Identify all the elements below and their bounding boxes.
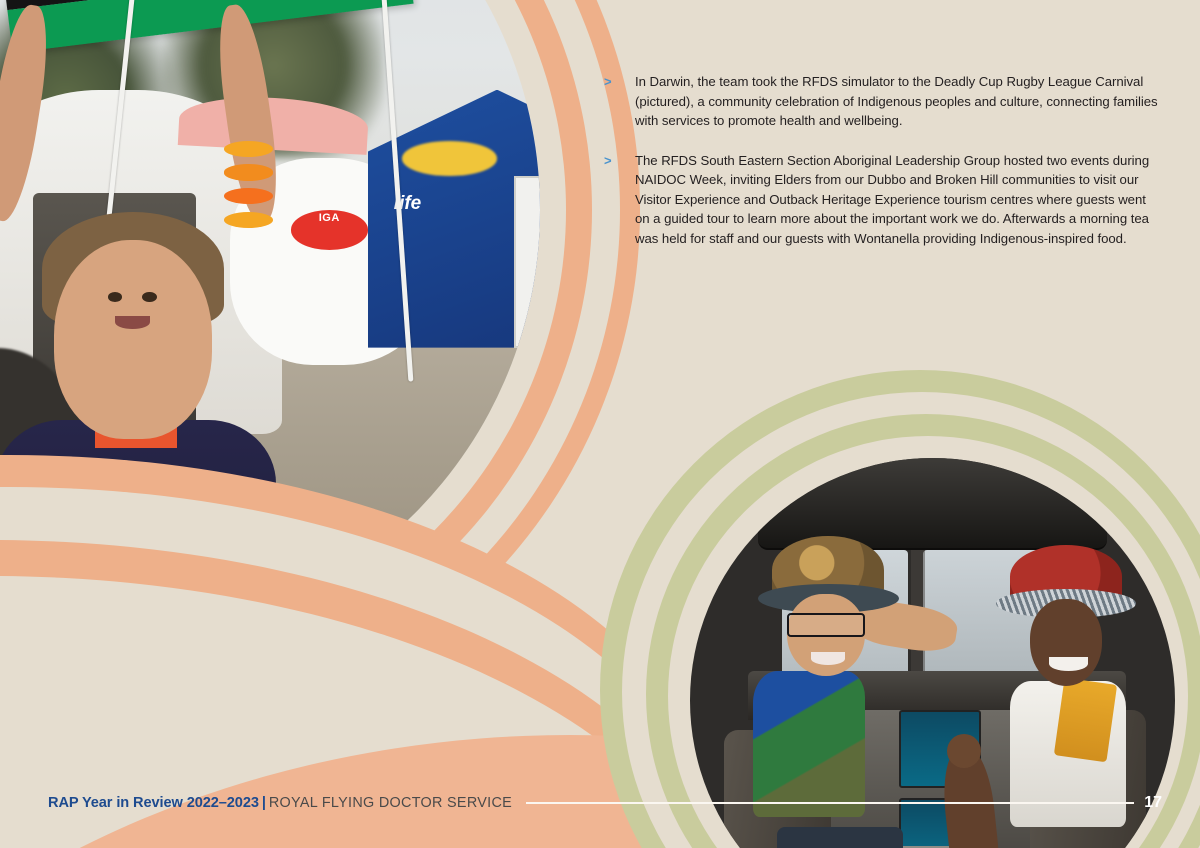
person-right-scarf [1053,678,1117,762]
information-board [514,176,540,348]
person-left-glasses-icon [787,613,865,637]
child-face [54,240,212,439]
bullet-text: In Darwin, the team took the RFDS simula… [635,72,1164,131]
child-eye-right [142,292,156,302]
footer-title-group: RAP Year in Review 2022–2023|ROYAL FLYIN… [48,795,512,811]
bullet-item: > The RFDS South Eastern Section Aborigi… [604,151,1164,249]
person-right-face [1030,599,1103,686]
person-left-legs [777,827,903,848]
footer-rule-line [526,802,1134,804]
bullet-chevron-icon: > [604,151,635,249]
wristband [224,212,274,228]
bullet-item: > In Darwin, the team took the RFDS simu… [604,72,1164,131]
footer-organisation-name: ROYAL FLYING DOCTOR SERVICE [269,795,512,811]
page-footer: RAP Year in Review 2022–2023|ROYAL FLYIN… [0,788,1200,818]
footer-report-title: RAP Year in Review 2022–2023 [48,795,259,811]
tent-logo-icon [402,141,497,175]
sponsor-badge-iga: IGA [291,210,368,250]
wristband [224,164,274,180]
body-text-column: > In Darwin, the team took the RFDS simu… [604,72,1164,268]
page-number: 17 [1144,794,1162,812]
child-smile [115,316,150,330]
overhead-switch-panel [758,458,1107,550]
wristband [224,141,274,157]
person-left-smile [811,652,845,665]
bullet-chevron-icon: > [604,72,635,131]
page-canvas: ing Docto IGA life [0,0,1200,848]
child-eye-left [108,292,122,302]
bullet-text: The RFDS South Eastern Section Aborigina… [635,151,1164,249]
footer-separator: | [259,795,269,811]
